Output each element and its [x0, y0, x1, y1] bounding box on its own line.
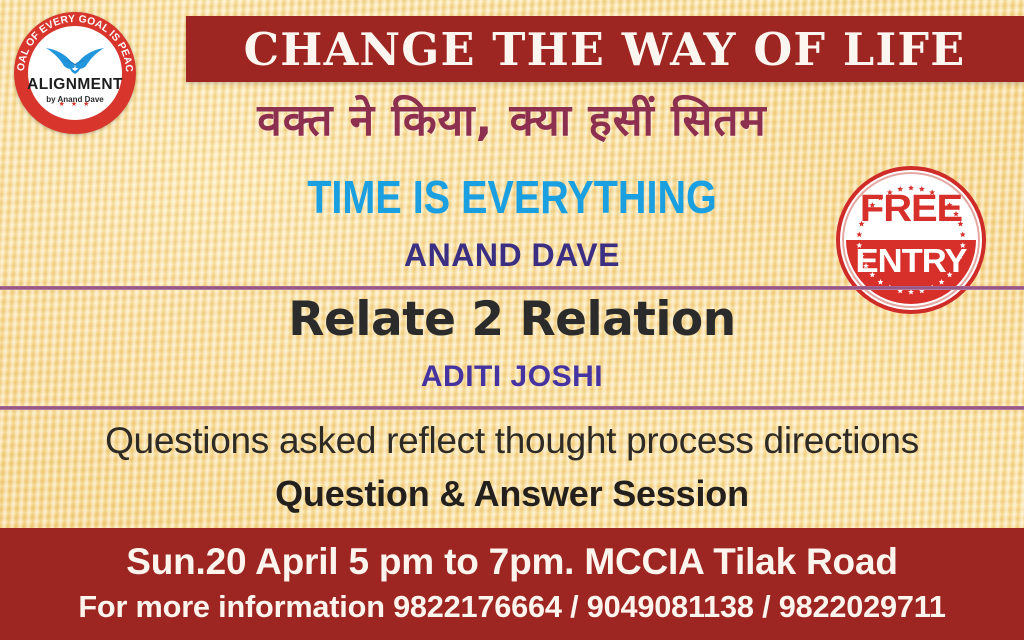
session-1-title: TIME IS EVERYTHING [72, 170, 953, 224]
footer-schedule: Sun.20 April 5 pm to 7pm. MCCIA Tilak Ro… [126, 543, 897, 582]
headline-banner: CHANGE THE WAY OF LIFE [186, 16, 1024, 82]
hindi-subtitle: वक्त ने किया, क्या हसीं सितम [0, 88, 1024, 148]
event-poster: GOAL OF EVERY GOAL IS PEACE Life is Beau… [0, 0, 1024, 640]
session-2-speaker: ADITI JOSHI [0, 360, 1024, 394]
headline-text: CHANGE THE WAY OF LIFE [244, 23, 966, 76]
divider-upper [0, 286, 1024, 290]
winged-handshake-icon [44, 46, 106, 76]
stamp-line-free: FREE [832, 188, 990, 231]
session-2-title: Relate 2 Relation [0, 292, 1024, 347]
qa-tagline: Questions asked reflect thought process … [0, 420, 1024, 462]
footer-bar: Sun.20 April 5 pm to 7pm. MCCIA Tilak Ro… [0, 528, 1024, 640]
stamp-line-entry: ENTRY [832, 242, 990, 280]
qa-session-label: Question & Answer Session [0, 473, 1024, 515]
divider-lower [0, 406, 1024, 410]
footer-contact: For more information 9822176664 / 904908… [78, 589, 945, 625]
